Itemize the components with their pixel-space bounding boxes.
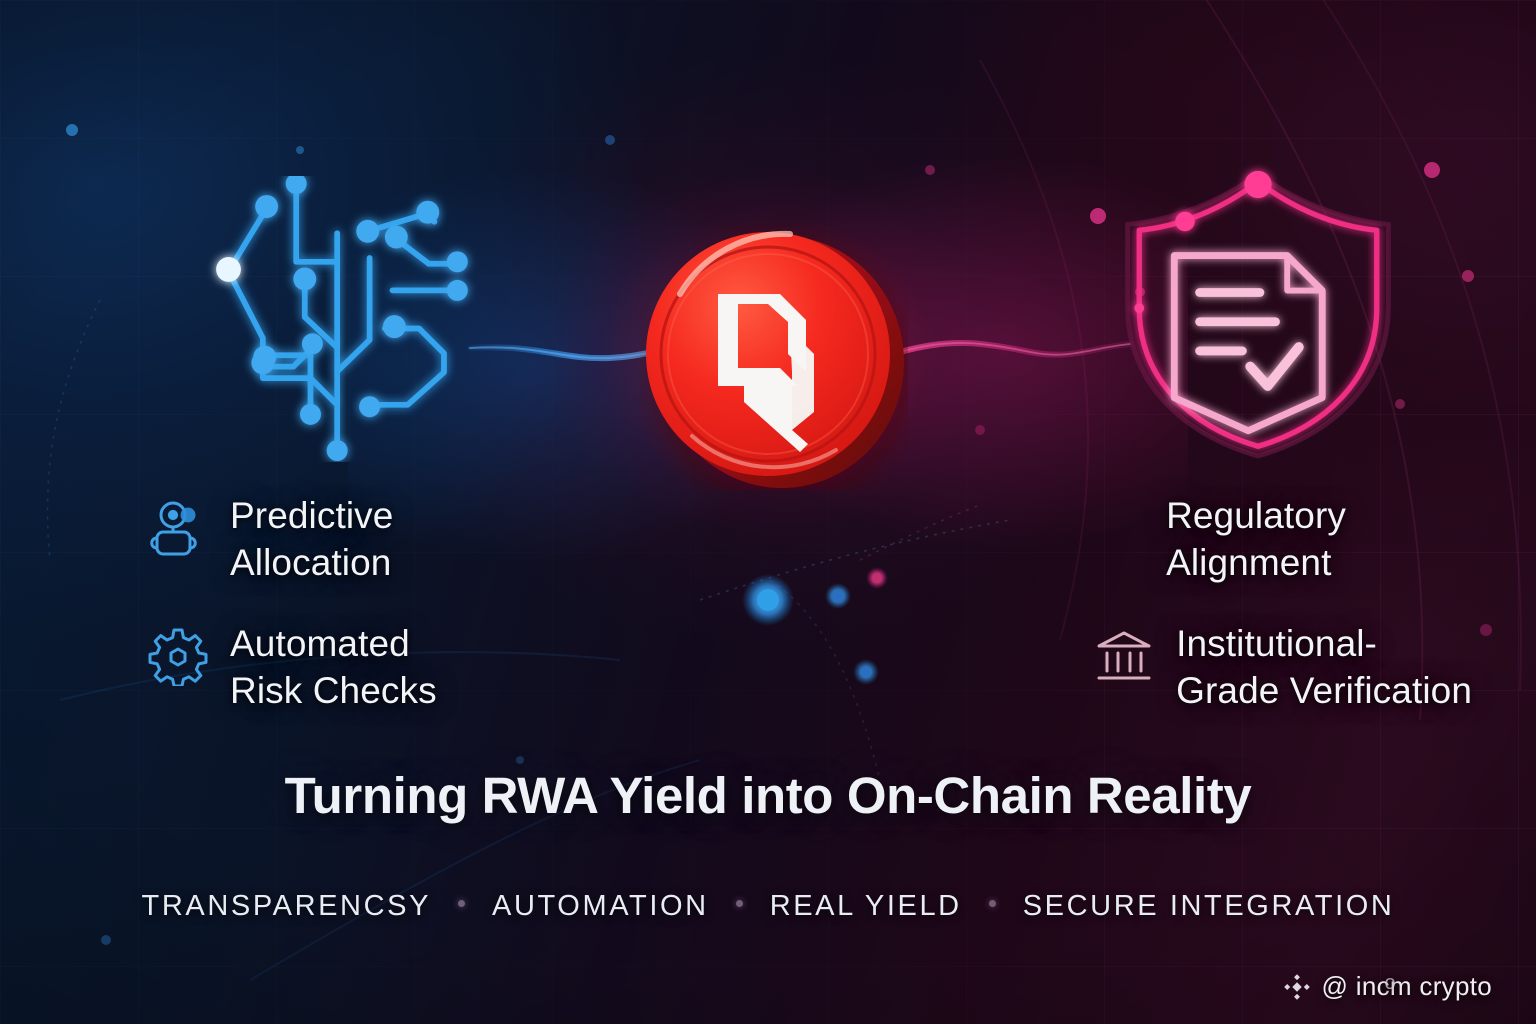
feature-label: Predictive Allocation [230, 492, 393, 587]
feature-label: Regulatory Alignment [1166, 492, 1346, 587]
tagline-separator-dot [989, 900, 996, 907]
feature-label: Institutional- Grade Verification [1176, 620, 1472, 715]
page-title: Turning RWA Yield into On-Chain Reality [0, 766, 1536, 825]
watermark-handle-suffix: m crypto [1390, 971, 1492, 1001]
feature-regulatory-alignment: Regulatory Alignment [1166, 492, 1346, 587]
feature-institutional-grade-verification: Institutional- Grade Verification [1094, 620, 1472, 715]
binance-diamond-icon [1283, 973, 1311, 1001]
poster-canvas: Predictive Allocation Automated Risk Che… [0, 0, 1536, 1024]
tagline-separator-dot [458, 900, 465, 907]
watermark-handle: @ incom crypto [1322, 971, 1492, 1002]
feature-predictive-allocation: Predictive Allocation [148, 492, 393, 587]
tagline-item-2: REAL YIELD [769, 890, 963, 923]
feature-automated-risk-checks: Automated Risk Checks [148, 620, 437, 715]
watermark-handle-prefix: @ inc [1322, 971, 1390, 1001]
tagline-item-1: AUTOMATION [491, 890, 710, 923]
tagline-separator-dot [736, 900, 743, 907]
feature-label: Automated Risk Checks [230, 620, 437, 715]
tagline-row: TRANSPARENCSY AUTOMATION REAL YIELD SECU… [0, 890, 1536, 923]
tagline-item-3: SECURE INTEGRATION [1022, 890, 1396, 923]
watermark: @ incom crypto [1283, 971, 1492, 1002]
robot-icon [148, 498, 208, 558]
gear-icon [148, 626, 208, 686]
bank-icon [1094, 626, 1154, 686]
tagline-item-0: TRANSPARENCSY [141, 890, 432, 923]
watermark-glyph-overlap: o [1385, 972, 1394, 995]
